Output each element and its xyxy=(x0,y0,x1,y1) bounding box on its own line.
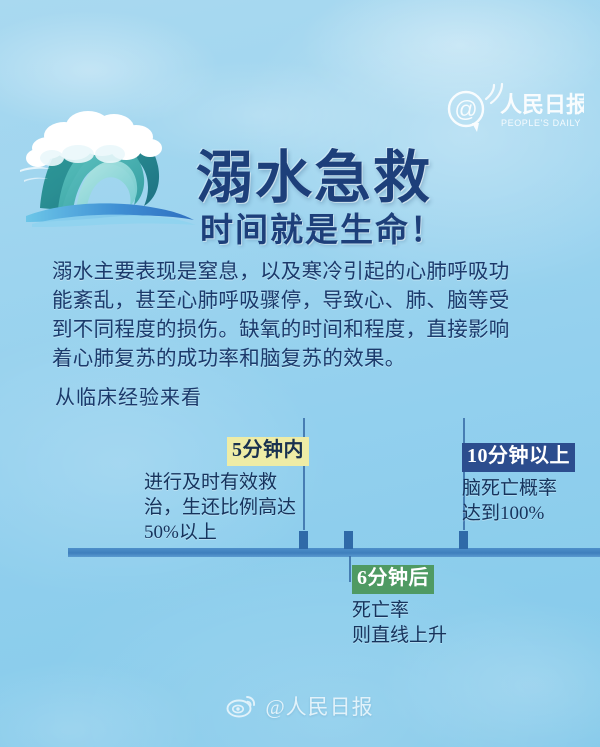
status-badge: 6分钟后 xyxy=(352,565,434,594)
infographic-poster: @ 人民日报 PEOPLE'S DAILY 溺水急救 时间就是生命！ 溺水主要表… xyxy=(0,0,600,747)
body-line: 着心肺复苏的成功率和脑复苏的效果。 xyxy=(52,345,560,374)
description-line: 50%以上 xyxy=(144,520,309,545)
timeline-tick-6min xyxy=(344,531,353,549)
peoples-daily-logo: @ 人民日报 PEOPLE'S DAILY xyxy=(444,82,584,136)
svg-text:@: @ xyxy=(454,96,477,122)
timeline-item-within-5-min: 5分钟内 进行及时有效救 治，生还比例高达 50%以上 xyxy=(144,437,309,545)
weibo-icon xyxy=(226,694,256,718)
footer-watermark: @人民日报 xyxy=(0,691,600,721)
timeline-item-description: 进行及时有效救 治，生还比例高达 50%以上 xyxy=(144,470,309,545)
page-subtitle: 时间就是生命！ xyxy=(200,203,445,251)
timeline-tick-10min xyxy=(459,531,468,549)
timeline-item-description: 死亡率 则直线上升 xyxy=(352,598,522,648)
description-line: 死亡率 xyxy=(352,598,522,623)
timeline-item-description: 脑死亡概率 达到100% xyxy=(462,476,597,526)
status-badge: 5分钟内 xyxy=(227,437,309,466)
body-line: 到不同程度的损伤。缺氧的时间和程度，直接影响 xyxy=(52,316,560,345)
timeline-axis xyxy=(68,548,600,557)
svg-text:人民日报: 人民日报 xyxy=(500,92,584,117)
status-badge: 10分钟以上 xyxy=(462,443,575,472)
body-line: 能紊乱，甚至心肺呼吸骤停，导致心、肺、脑等受 xyxy=(52,287,560,316)
description-line: 治，生还比例高达 xyxy=(144,495,309,520)
ocean-wave-icon xyxy=(18,104,198,229)
page-title: 溺水急救 xyxy=(196,132,432,214)
svg-text:PEOPLE'S DAILY: PEOPLE'S DAILY xyxy=(501,118,581,128)
description-line: 进行及时有效救 xyxy=(144,470,309,495)
body-line: 溺水主要表现是窒息，以及寒冷引起的心肺呼吸功 xyxy=(52,258,560,287)
description-line: 则直线上升 xyxy=(352,623,522,648)
timeline-stem-6min xyxy=(349,556,351,582)
description-line: 达到100% xyxy=(462,501,597,526)
section-heading: 从临床经验来看 xyxy=(55,381,202,410)
timeline-item-after-6-min: 6分钟后 死亡率 则直线上升 xyxy=(352,565,522,648)
watermark-label: @人民日报 xyxy=(265,691,373,721)
body-paragraph: 溺水主要表现是窒息，以及寒冷引起的心肺呼吸功 能紊乱，甚至心肺呼吸骤停，导致心、… xyxy=(52,258,560,374)
description-line: 脑死亡概率 xyxy=(462,476,597,501)
timeline-item-over-10-min: 10分钟以上 脑死亡概率 达到100% xyxy=(462,443,597,526)
